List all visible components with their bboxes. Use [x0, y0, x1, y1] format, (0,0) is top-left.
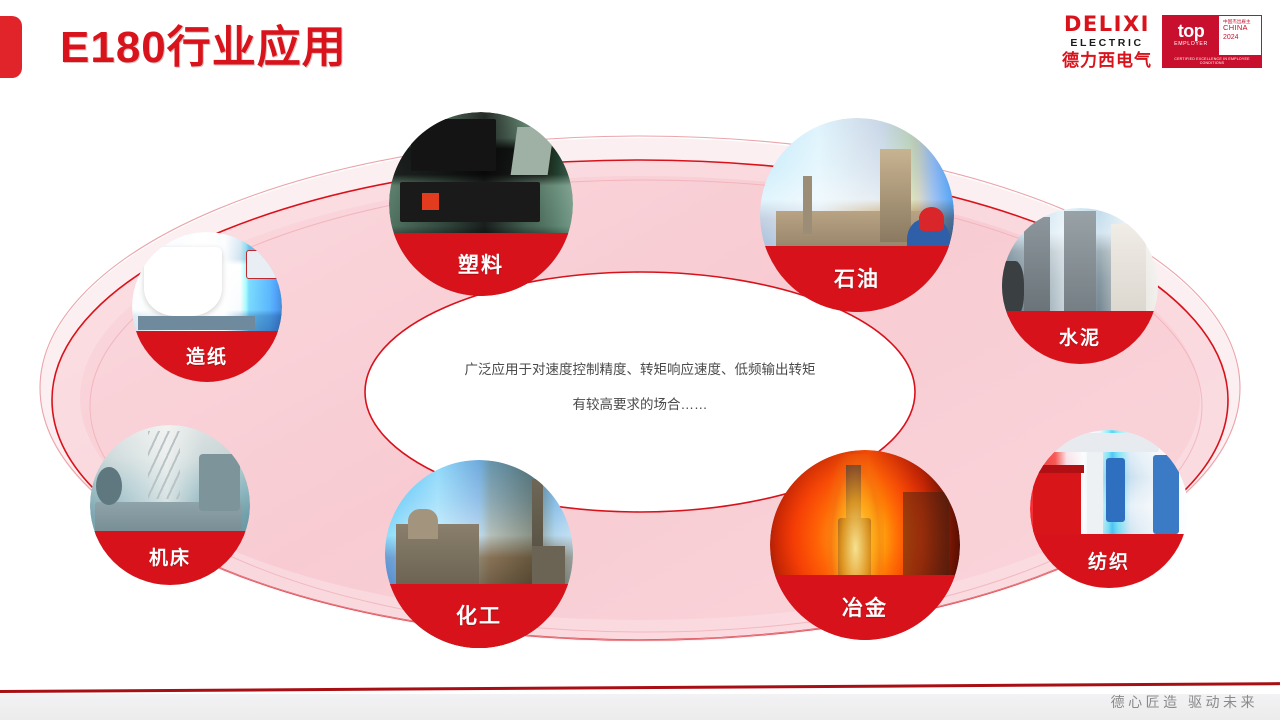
delixi-chinese-name: 德力西电气	[1062, 52, 1152, 69]
slide-canvas: E180行业应用 DELIXI ELECTRIC 德力西电气 top EMPLO…	[0, 0, 1280, 720]
industry-label-petroleum: 石油	[760, 246, 954, 312]
industry-node-textile[interactable]: 纺织	[1030, 430, 1188, 588]
badge-left-block: top EMPLOYER	[1163, 16, 1219, 55]
industry-node-metallurgy[interactable]: 冶金	[770, 450, 960, 640]
industry-label-papermaking: 造纸	[132, 331, 282, 382]
industry-node-cement[interactable]: 水泥	[1002, 208, 1158, 364]
delixi-logo: DELIXI ELECTRIC 德力西电气	[1062, 14, 1152, 69]
badge-right-block: 中国杰出雇主 CHINA 2024	[1219, 16, 1261, 55]
badge-country: CHINA	[1223, 24, 1261, 33]
industry-node-plastics[interactable]: 塑料	[389, 112, 573, 296]
center-caption-line-1: 广泛应用于对速度控制精度、转矩响应速度、低频输出转矩	[400, 352, 880, 387]
badge-year: 2024	[1223, 34, 1261, 42]
center-caption-line-2: 有较高要求的场合……	[400, 387, 880, 422]
industry-label-machine-tools: 机床	[90, 531, 250, 585]
badge-top-row: top EMPLOYER 中国杰出雇主 CHINA 2024	[1163, 16, 1261, 55]
industry-node-chemical[interactable]: 化工	[385, 460, 573, 648]
center-caption: 广泛应用于对速度控制精度、转矩响应速度、低频输出转矩 有较高要求的场合……	[400, 352, 880, 422]
delixi-wordmark: DELIXI	[1062, 14, 1152, 35]
industry-node-petroleum[interactable]: 石油	[760, 118, 954, 312]
footer-band	[0, 694, 1280, 720]
delixi-sub-wordmark: ELECTRIC	[1062, 38, 1152, 49]
footer-slogan: 德心匠造 驱动未来	[1111, 692, 1258, 712]
industry-label-chemical: 化工	[385, 584, 573, 648]
industry-label-cement: 水泥	[1002, 311, 1158, 364]
top-employer-badge: top EMPLOYER 中国杰出雇主 CHINA 2024 CERTIFIED…	[1162, 15, 1262, 69]
brand-logo-group: DELIXI ELECTRIC 德力西电气 top EMPLOYER 中国杰出雇…	[1062, 14, 1262, 69]
badge-employer-word: EMPLOYER	[1174, 42, 1208, 47]
industry-label-metallurgy: 冶金	[770, 575, 960, 640]
industry-node-papermaking[interactable]: 造纸	[132, 232, 282, 382]
industry-label-plastics: 塑料	[389, 233, 573, 296]
badge-top-word: top	[1178, 22, 1204, 40]
badge-footer-line: CERTIFIED EXCELLENCE IN EMPLOYEE CONDITI…	[1163, 55, 1261, 68]
industry-label-textile: 纺织	[1030, 534, 1188, 588]
title-accent-tab	[0, 16, 22, 78]
footer-rule	[0, 682, 1280, 693]
page-title: E180行业应用	[60, 20, 347, 76]
industry-node-machine-tools[interactable]: 机床	[90, 425, 250, 585]
